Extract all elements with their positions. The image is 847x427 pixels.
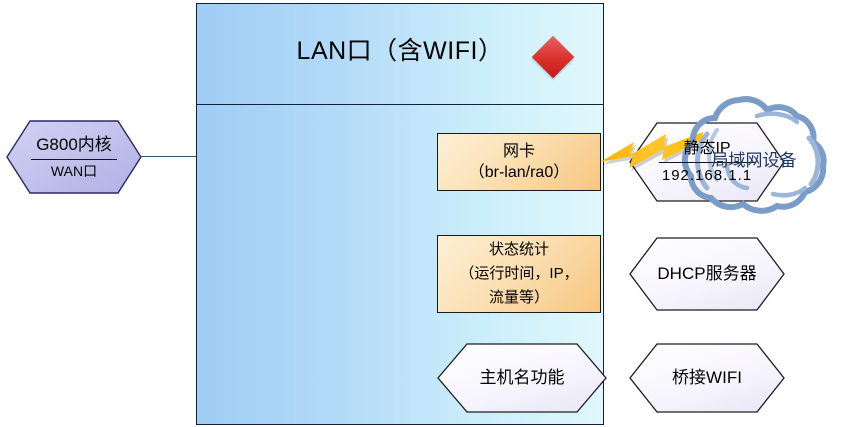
- lan-panel: LAN口（含WIFI） 网卡 （br-lan/ra0） 静态IP 192.168…: [196, 3, 604, 425]
- status-stats-line-2: （运行时间，IP，: [459, 262, 578, 286]
- lan-devices-label: 局域网设备: [661, 146, 847, 171]
- dhcp-server-node[interactable]: DHCP服务器: [629, 237, 785, 311]
- wan-node-divider: [31, 159, 117, 160]
- dhcp-server-label: DHCP服务器: [657, 264, 756, 284]
- wan-kernel-title: G800内核: [36, 135, 112, 158]
- wan-kernel-node[interactable]: G800内核 WAN口: [6, 120, 142, 194]
- nic-box-line-2: （br-lan/ra0）: [469, 162, 569, 184]
- bridge-wifi-node[interactable]: 桥接WIFI: [629, 343, 785, 413]
- hostname-node[interactable]: 主机名功能: [437, 343, 607, 413]
- hostname-label: 主机名功能: [480, 368, 565, 388]
- nic-box-line-1: 网卡: [503, 141, 535, 162]
- bridge-wifi-label: 桥接WIFI: [672, 368, 742, 388]
- wan-port-label: WAN口: [51, 163, 97, 179]
- status-stats-box[interactable]: 状态统计 （运行时间，IP， 流量等）: [437, 235, 601, 313]
- nic-box[interactable]: 网卡 （br-lan/ra0）: [437, 133, 601, 191]
- lan-panel-header: LAN口（含WIFI）: [197, 4, 603, 105]
- status-stats-line-1: 状态统计: [489, 238, 549, 262]
- status-stats-line-3: 流量等）: [489, 286, 549, 310]
- lan-devices-cloud[interactable]: 局域网设备: [661, 94, 847, 222]
